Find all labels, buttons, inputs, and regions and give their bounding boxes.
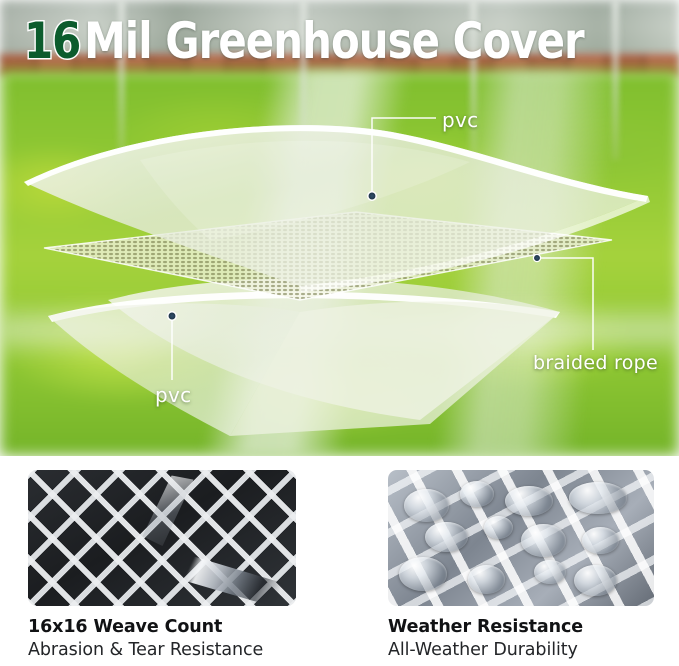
water-drop: [569, 482, 628, 513]
dot-pvc-bottom: [168, 312, 176, 320]
dot-pvc-top: [368, 192, 376, 200]
weave-closeup-photo: [28, 470, 296, 606]
leader-braided-rope: [537, 258, 593, 350]
callout-braided-rope: braided rope: [533, 352, 658, 374]
water-drop: [460, 481, 495, 507]
layer-bottom-pvc: [48, 279, 560, 436]
water-drop: [425, 522, 468, 552]
scissor-blade-shape: [119, 489, 296, 606]
feature-title-weather: Weather Resistance: [388, 617, 654, 637]
water-drop: [484, 516, 513, 539]
water-drop: [521, 524, 566, 557]
callout-pvc-bottom: pvc: [155, 383, 191, 407]
layer-top-pvc: [24, 125, 650, 292]
water-droplet-group: [388, 470, 654, 606]
infographic-page: pvc braided rope pvc 16Mil Greenhouse Co…: [0, 0, 679, 666]
dot-braided-rope: [533, 254, 540, 261]
water-drop: [404, 489, 449, 522]
feature-panel-weave: 16x16 Weave Count Abrasion & Tear Resist…: [28, 470, 296, 660]
feature-panel-weather: Weather Resistance All-Weather Durabilit…: [388, 470, 654, 660]
water-drop: [505, 486, 553, 516]
water-drop: [468, 565, 505, 594]
title-number: 16: [24, 12, 80, 70]
title-text: Mil Greenhouse Cover: [84, 12, 584, 70]
page-title: 16Mil Greenhouse Cover: [24, 12, 584, 70]
feature-subtitle-weave: Abrasion & Tear Resistance: [28, 640, 296, 660]
scissor-blade-shape-2: [135, 475, 226, 546]
water-beading-photo: [388, 470, 654, 606]
water-drop: [574, 565, 617, 596]
hero-photo-section: pvc braided rope pvc 16Mil Greenhouse Co…: [0, 0, 679, 456]
water-drop: [582, 527, 619, 554]
feature-subtitle-weather: All-Weather Durability: [388, 640, 654, 660]
feature-title-weave: 16x16 Weave Count: [28, 617, 296, 637]
water-drop: [399, 557, 447, 591]
callout-pvc-top: pvc: [442, 108, 478, 132]
water-drop: [534, 560, 566, 584]
